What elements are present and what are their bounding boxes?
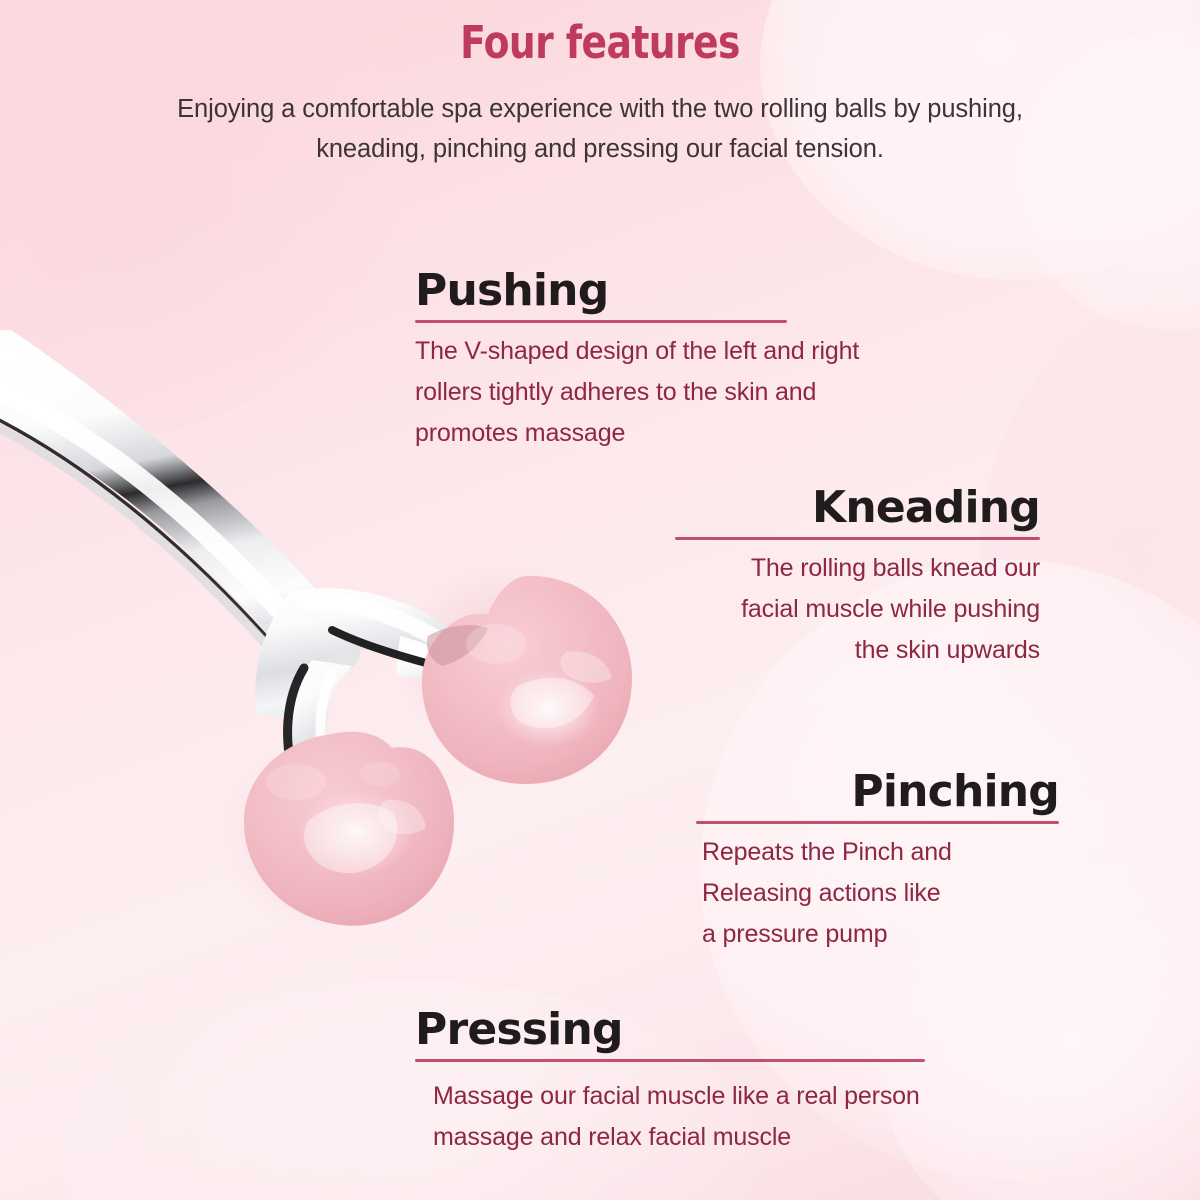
feature-body-kneading: The rolling balls knead our facial muscl… bbox=[675, 540, 1040, 671]
feature-title-kneading: Kneading bbox=[675, 482, 1040, 534]
feature-body-line: The rolling balls knead our bbox=[675, 548, 1040, 589]
feature-block-pushing: Pushing The V-shaped design of the left … bbox=[415, 265, 787, 454]
feature-body-pinching: Repeats the Pinch and Releasing actions … bbox=[696, 824, 1059, 955]
feature-body-line: promotes massage bbox=[415, 413, 787, 454]
feature-body-line: the skin upwards bbox=[675, 630, 1040, 671]
feature-title-pushing: Pushing bbox=[415, 265, 787, 317]
header: Four features Enjoying a comfortable spa… bbox=[0, 0, 1200, 169]
feature-block-kneading: Kneading The rolling balls knead our fac… bbox=[675, 482, 1040, 671]
feature-body-line: a pressure pump bbox=[702, 914, 1059, 955]
feature-title-pinching: Pinching bbox=[696, 766, 1059, 818]
feature-block-pinching: Pinching Repeats the Pinch and Releasing… bbox=[696, 766, 1059, 955]
infographic-canvas: Four features Enjoying a comfortable spa… bbox=[0, 0, 1200, 1200]
feature-body-line: Repeats the Pinch and bbox=[702, 832, 1059, 873]
feature-body-line: massage and relax facial muscle bbox=[433, 1117, 925, 1158]
feature-body-pushing: The V-shaped design of the left and righ… bbox=[415, 323, 787, 454]
feature-body-line: rollers tightly adheres to the skin and bbox=[415, 372, 787, 413]
subtitle-line-2: kneading, pinching and pressing our faci… bbox=[0, 129, 1200, 169]
feature-title-pressing: Pressing bbox=[415, 1004, 925, 1056]
page-title: Four features bbox=[42, 0, 1158, 69]
feature-body-pressing: Massage our facial muscle like a real pe… bbox=[415, 1062, 925, 1158]
feature-body-line: The V-shaped design of the left and righ… bbox=[415, 331, 787, 372]
feature-body-line: facial muscle while pushing bbox=[675, 589, 1040, 630]
feature-block-pressing: Pressing Massage our facial muscle like … bbox=[415, 1004, 925, 1158]
feature-body-line: Releasing actions like bbox=[702, 873, 1059, 914]
subtitle-line-1: Enjoying a comfortable spa experience wi… bbox=[0, 69, 1200, 129]
feature-body-line: Massage our facial muscle like a real pe… bbox=[433, 1076, 925, 1117]
